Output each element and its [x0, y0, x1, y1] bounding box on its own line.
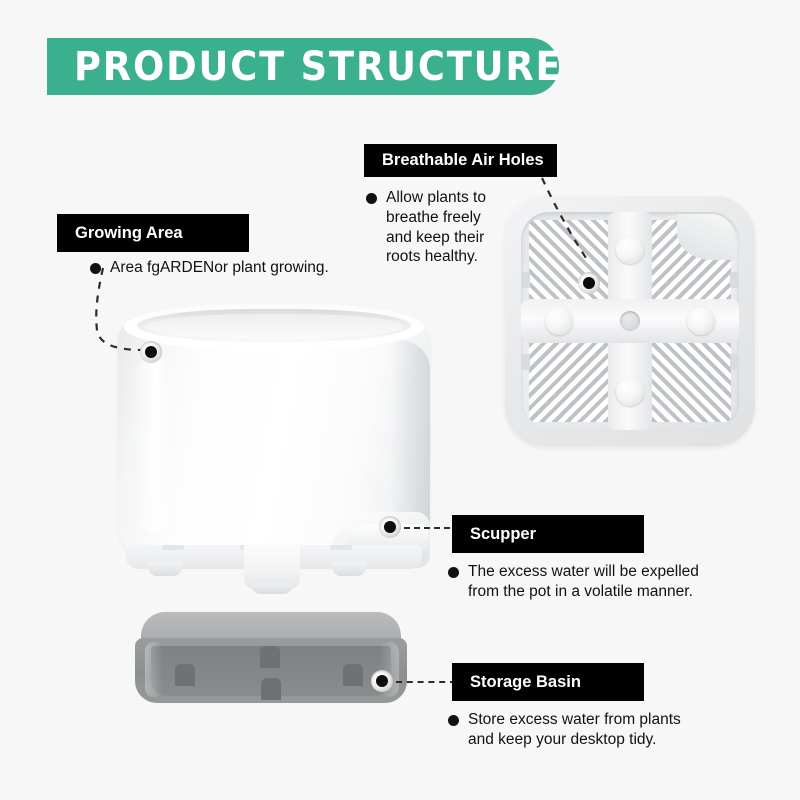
plate-mount-boss: [616, 378, 644, 406]
basin-left-highlight: [145, 642, 163, 697]
callout-label-text: Breathable Air Holes: [382, 151, 544, 170]
callout-description-breathable-air-holes: Allow plants to breathe freely and keep …: [366, 188, 536, 267]
plate-mount-boss: [545, 307, 573, 335]
marker-dot-growing-area: [145, 346, 157, 358]
callout-label-storage-basin: Storage Basin: [452, 663, 644, 701]
infographic-canvas: PRODUCT STRUCTURE: [0, 0, 800, 800]
plate-center-hole: [620, 311, 640, 331]
callout-label-scupper: Scupper: [452, 515, 644, 553]
callout-label-growing-area: Growing Area: [57, 214, 249, 252]
bullet-icon: [448, 567, 459, 578]
storage-basin-illustration: [135, 612, 407, 707]
plate-mount-boss: [616, 236, 644, 264]
plate-side-tab: [521, 354, 530, 370]
basin-notch: [260, 646, 280, 668]
planter-base-notch: [162, 545, 184, 550]
planter-foot: [148, 562, 182, 576]
leader-line-air-holes: [540, 178, 610, 263]
callout-label-text: Storage Basin: [470, 673, 581, 692]
basin-notch: [343, 664, 363, 686]
plate-mount-boss: [687, 307, 715, 335]
callout-description-text: Area fgARDENor plant growing.: [110, 258, 329, 278]
plate-side-tab: [521, 272, 530, 288]
page-title-banner: PRODUCT STRUCTURE: [47, 38, 559, 95]
callout-description-text: The excess water will be expelled from t…: [468, 562, 699, 602]
vent-slots-bottom-left: [529, 336, 615, 422]
planter-highlight: [134, 358, 174, 533]
callout-label-text: Scupper: [470, 525, 536, 544]
planter-rim-inner-surface: [144, 314, 404, 339]
planter-base-notch: [330, 545, 352, 550]
marker-dot-scupper: [384, 521, 396, 533]
callout-description-text: Allow plants to breathe freely and keep …: [386, 188, 486, 267]
plate-side-tab: [730, 354, 739, 370]
callout-description-scupper: The excess water will be expelled from t…: [448, 562, 738, 602]
marker-dot-air-holes: [583, 277, 595, 289]
marker-dot-storage-basin: [376, 675, 388, 687]
bullet-icon: [448, 715, 459, 726]
callout-description-storage-basin: Store excess water from plants and keep …: [448, 710, 738, 750]
page-title: PRODUCT STRUCTURE: [74, 44, 563, 90]
callout-label-text: Growing Area: [75, 224, 183, 243]
bullet-icon: [366, 193, 377, 204]
basin-notch: [261, 678, 281, 700]
basin-notch: [175, 664, 195, 686]
planter-foot: [332, 562, 366, 576]
planter-center-plug-foot: [252, 583, 292, 594]
callout-description-growing-area: Area fgARDENor plant growing.: [90, 258, 350, 278]
leader-line-storage-basin: [396, 681, 456, 683]
callout-description-text: Store excess water from plants and keep …: [468, 710, 681, 750]
callout-label-breathable-air-holes: Breathable Air Holes: [364, 144, 557, 177]
vent-slots-bottom-right: [645, 336, 731, 422]
plate-side-tab: [730, 272, 739, 288]
bullet-icon: [90, 263, 101, 274]
